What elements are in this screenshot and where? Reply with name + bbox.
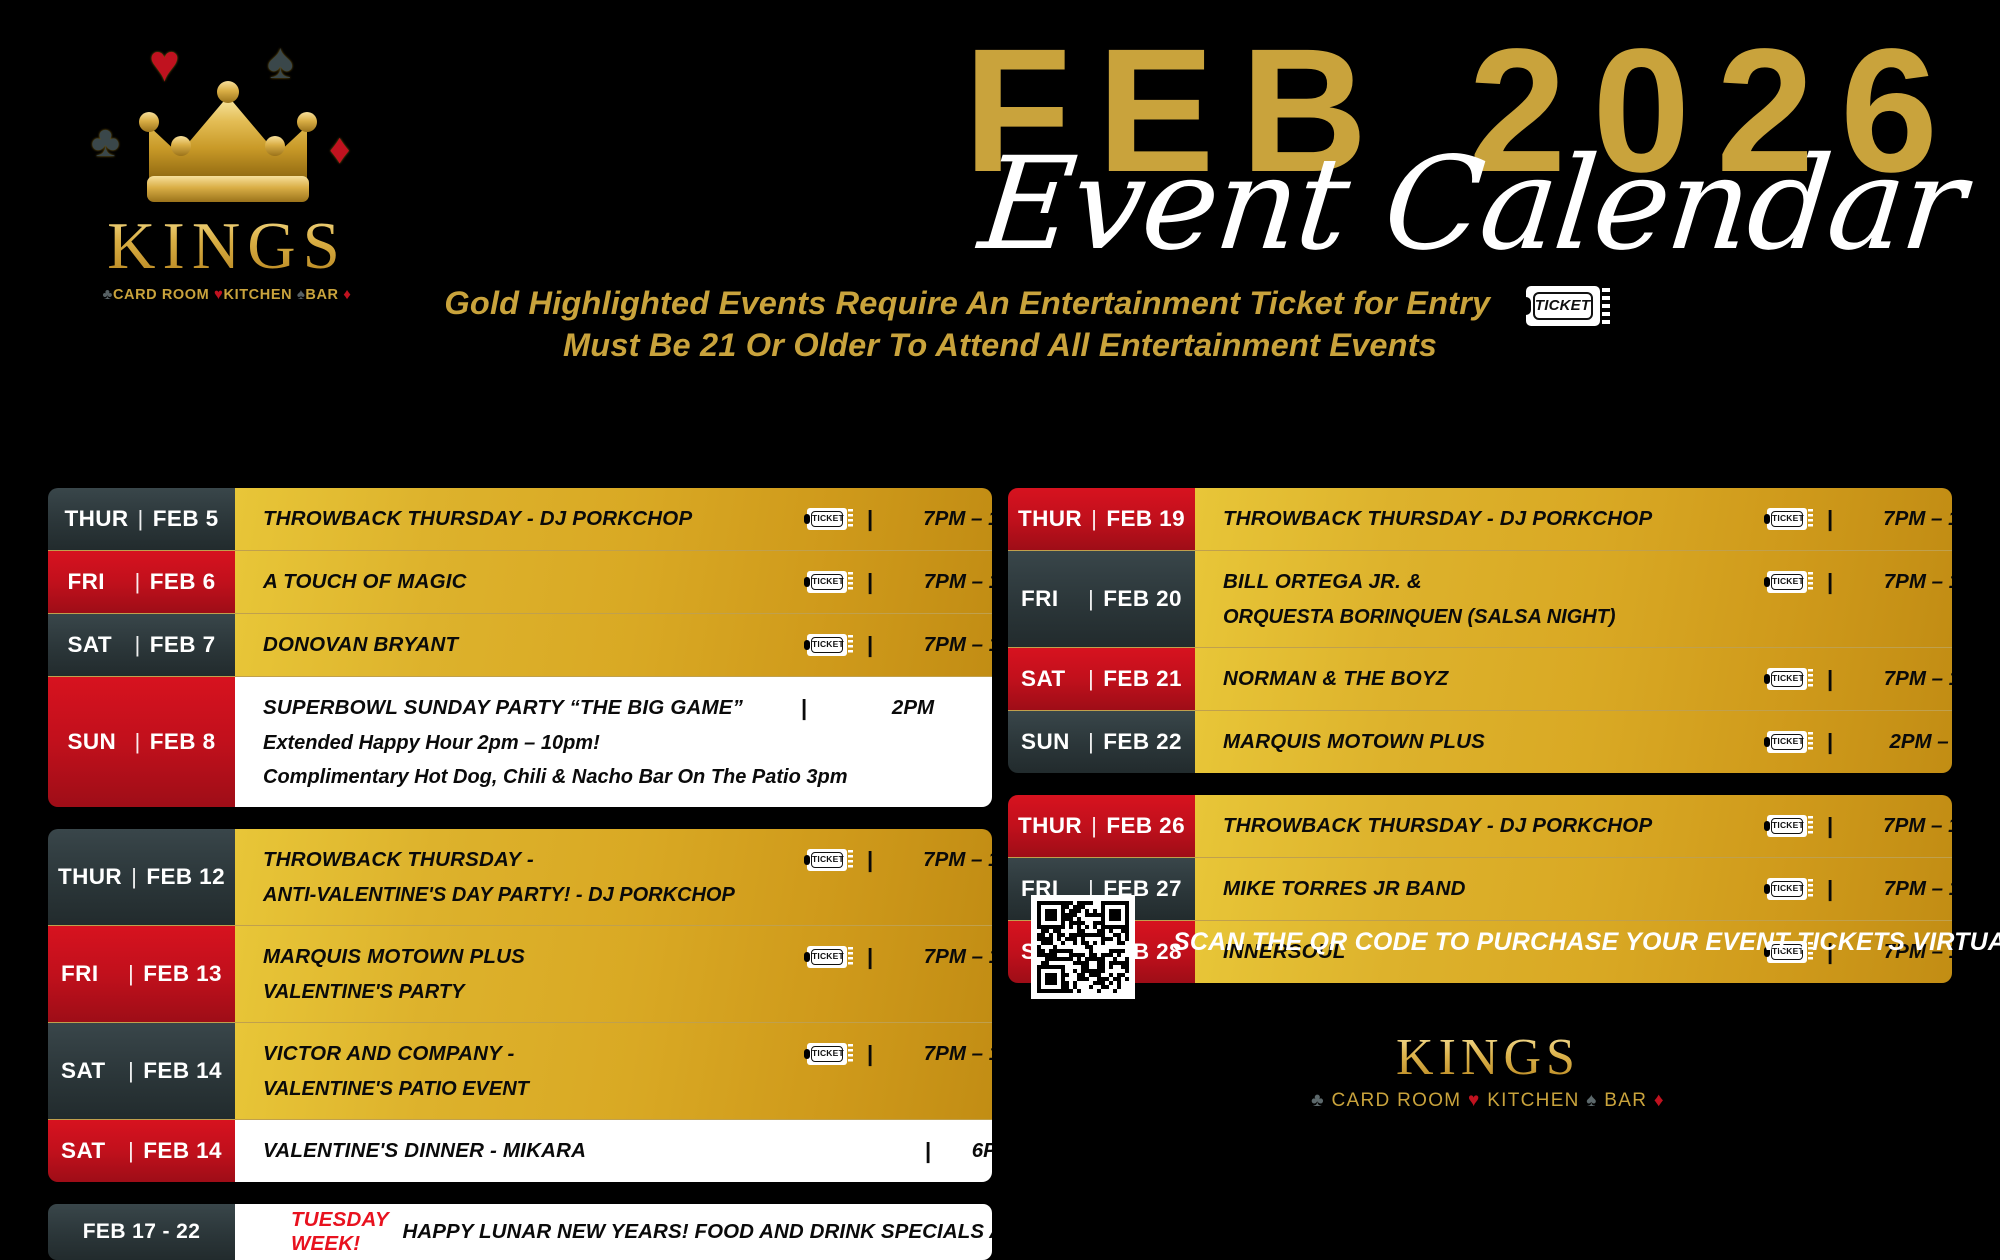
event-primary-line: MARQUIS MOTOWN PLUSTICKET|2PM – 5PM|PATI… [1195, 724, 1952, 760]
ticket-icon-label: TICKET [1533, 292, 1593, 320]
event-date-badge: THUR|FEB 26 [1008, 795, 1195, 857]
event-row[interactable]: THUR|FEB 12THROWBACK THURSDAY -TICKET|7P… [48, 829, 992, 925]
event-date-badge: THUR|FEB 5 [48, 488, 235, 550]
event-time: 7PM – 12AM [893, 842, 992, 878]
event-row[interactable]: THUR|FEB 5THROWBACK THURSDAY - DJ PORKCH… [48, 488, 992, 550]
event-time: 7PM – 10PM [893, 564, 992, 600]
event-primary-line: A TOUCH OF MAGICTICKET|7PM – 10PM|PATIO [235, 564, 992, 600]
event-primary-line: MARQUIS MOTOWN PLUSTICKET|7PM – 10PM|PAT… [235, 939, 992, 975]
event-date: FEB 12 [146, 864, 225, 890]
event-day: FRI [67, 569, 125, 595]
ticket-icon-label: TICKET [811, 637, 843, 653]
brand-logo: ♥ ♠ ♣ ♦ [62, 16, 392, 303]
badge-separator: | [1088, 666, 1094, 692]
event-details: NORMAN & THE BOYZTICKET|7PM – 10PM|PATIO [1195, 648, 1952, 710]
event-date: FEB 13 [143, 961, 222, 987]
event-primary-line: VICTOR AND COMPANY -TICKET|7PM – 10PM|PA… [235, 1036, 992, 1072]
club-suit-icon-footer: ♣ [1311, 1090, 1325, 1111]
week-block: THUR|FEB 12THROWBACK THURSDAY -TICKET|7P… [48, 829, 992, 1182]
event-details: MARQUIS MOTOWN PLUSTICKET|2PM – 5PM|PATI… [1195, 711, 1952, 773]
event-time: 2PM [823, 690, 992, 726]
event-row[interactable]: THUR|FEB 26THROWBACK THURSDAY - DJ PORKC… [1008, 795, 1952, 857]
calendar-column-left: THUR|FEB 5THROWBACK THURSDAY - DJ PORKCH… [48, 488, 992, 1260]
ticket-icon: TICKET [807, 1036, 855, 1072]
page-footer: SCAN THE QR CODE TO PURCHASE YOUR EVENT … [1008, 880, 1968, 1120]
event-day: THUR [1018, 813, 1082, 839]
event-row[interactable]: SUN|FEB 8SUPERBOWL SUNDAY PARTY “THE BIG… [48, 676, 992, 807]
event-day: THUR [64, 506, 128, 532]
separator-pipe: | [801, 690, 807, 726]
event-date: FEB 26 [1106, 813, 1185, 839]
week-block: THUR|FEB 19THROWBACK THURSDAY - DJ PORKC… [1008, 488, 1952, 773]
event-details: A TOUCH OF MAGICTICKET|7PM – 10PM|PATIO [235, 551, 992, 613]
badge-separator: | [128, 961, 134, 987]
separator-pipe: | [867, 939, 873, 975]
event-details: MARQUIS MOTOWN PLUSTICKET|7PM – 10PM|PAT… [235, 926, 992, 1022]
event-date: FEB 8 [150, 729, 216, 755]
event-date: FEB 21 [1103, 666, 1182, 692]
crown-icon [133, 68, 323, 218]
event-day: THUR [58, 864, 122, 890]
ticket-icon-large: TICKET [1526, 285, 1614, 326]
event-time: 7PM – 10PM [893, 1036, 992, 1072]
event-primary-line: SUPERBOWL SUNDAY PARTY “THE BIG GAME”|2P… [235, 690, 992, 726]
event-row[interactable]: FRI|FEB 13MARQUIS MOTOWN PLUSTICKET|7PM … [48, 925, 992, 1022]
qr-code[interactable] [1031, 895, 1135, 999]
page-subtitle: Event Calendar [474, 153, 1975, 258]
event-date: FEB 7 [150, 632, 216, 658]
ticket-icon: TICKET [807, 842, 855, 878]
event-title: DONOVAN BRYANT [263, 627, 458, 663]
ticket-icon-label: TICKET [1771, 734, 1803, 750]
event-details: THROWBACK THURSDAY -TICKET|7PM – 12AM|PA… [235, 829, 992, 925]
event-title: VICTOR AND COMPANY - [263, 1036, 515, 1072]
event-day: SAT [67, 632, 125, 658]
event-date: FEB 5 [153, 506, 219, 532]
event-primary-line: THROWBACK THURSDAY - DJ PORKCHOPTICKET|7… [1195, 808, 1952, 844]
brand-name: KINGS [62, 215, 392, 279]
event-time: 2PM – 5PM [1853, 724, 1952, 760]
ticket-icon: TICKET [1767, 724, 1815, 760]
event-date-badge: SAT|FEB 7 [48, 614, 235, 676]
ticket-icon-label: TICKET [1771, 511, 1803, 527]
separator-pipe: | [867, 501, 873, 537]
event-row[interactable]: SAT|FEB 7DONOVAN BRYANTTICKET|7PM – 10PM… [48, 613, 992, 676]
event-primary-line: THROWBACK THURSDAY - DJ PORKCHOPTICKET|7… [1195, 501, 1952, 537]
event-time: 7PM – 12AM [893, 501, 992, 537]
footer-tagline-card-room: CARD ROOM [1332, 1090, 1462, 1111]
diamond-suit-icon: ♦ [329, 128, 350, 170]
event-details: THROWBACK THURSDAY - DJ PORKCHOPTICKET|7… [1195, 488, 1952, 550]
event-time: 7PM – 10PM [893, 939, 992, 975]
separator-pipe: | [867, 564, 873, 600]
footer-tagline-bar: BAR [1604, 1090, 1647, 1111]
lunar-message: HAPPY LUNAR NEW YEARS! FOOD AND DRINK SP… [402, 1220, 992, 1244]
separator-pipe: | [867, 842, 873, 878]
event-extra-line: ANTI-VALENTINE'S DAY PARTY! - DJ PORKCHO… [235, 878, 992, 912]
separator-pipe: | [1827, 501, 1833, 537]
event-date-badge: FRI|FEB 6 [48, 551, 235, 613]
week-block: THUR|FEB 5THROWBACK THURSDAY - DJ PORKCH… [48, 488, 992, 807]
event-day: FRI [1021, 586, 1079, 612]
ticket-icon: TICKET [1767, 501, 1815, 537]
ticket-icon-label: TICKET [1771, 671, 1803, 687]
separator-pipe: | [867, 1036, 873, 1072]
badge-separator: | [1091, 506, 1097, 532]
event-extra-line: Extended Happy Hour 2pm – 10pm! [235, 726, 992, 760]
event-day: FRI [61, 961, 119, 987]
lunar-highlight: TUESDAY WEEK! [291, 1208, 388, 1256]
event-date-badge: FRI|FEB 13 [48, 926, 235, 1022]
entry-notice: Gold Highlighted Events Require An Enter… [0, 284, 2000, 366]
event-time: 7PM – 12AM [1853, 808, 1952, 844]
event-details: BILL ORTEGA JR. &TICKET|7PM – 10PM|PATIO… [1195, 551, 1952, 647]
separator-pipe: | [1827, 661, 1833, 697]
event-row[interactable]: THUR|FEB 19THROWBACK THURSDAY - DJ PORKC… [1008, 488, 1952, 550]
notice-line-1: Gold Highlighted Events Require An Enter… [0, 284, 2000, 326]
lunar-message-body: TUESDAY WEEK!HAPPY LUNAR NEW YEARS! FOOD… [235, 1204, 992, 1260]
ticket-icon: TICKET [1767, 808, 1815, 844]
page-header: ♥ ♠ ♣ ♦ [0, 0, 2000, 360]
event-time: 7PM – 10PM [1853, 661, 1952, 697]
event-row[interactable]: SAT|FEB 14VICTOR AND COMPANY -TICKET|7PM… [48, 1022, 992, 1119]
badge-separator: | [1091, 813, 1097, 839]
event-time: 7PM – 10PM [1853, 564, 1952, 600]
event-row[interactable]: FRI|FEB 6A TOUCH OF MAGICTICKET|7PM – 10… [48, 550, 992, 613]
event-date: FEB 6 [150, 569, 216, 595]
ticket-icon-label: TICKET [811, 511, 843, 527]
ticket-icon: TICKET [807, 564, 855, 600]
badge-separator: | [138, 506, 144, 532]
ticket-icon-label: TICKET [1771, 818, 1803, 834]
ticket-icon: TICKET [1767, 661, 1815, 697]
ticket-icon: TICKET [807, 627, 855, 663]
event-day: SUN [1021, 729, 1079, 755]
event-extra-line: Complimentary Hot Dog, Chili & Nacho Bar… [235, 760, 992, 794]
event-details: DONOVAN BRYANTTICKET|7PM – 10PM|PATIO [235, 614, 992, 676]
event-title: A TOUCH OF MAGIC [263, 564, 467, 600]
event-day: SAT [1021, 666, 1079, 692]
event-date-badge: FRI|FEB 20 [1008, 551, 1195, 647]
title-area: FEB 2026 Event Calendar [480, 34, 1970, 258]
scan-instruction: SCAN THE QR CODE TO PURCHASE YOUR EVENT … [1173, 928, 2000, 957]
club-suit-icon: ♣ [91, 120, 120, 164]
event-date-badge: SAT|FEB 21 [1008, 648, 1195, 710]
event-time: 6PM – 10PM [941, 1133, 992, 1169]
event-title: NORMAN & THE BOYZ [1223, 661, 1448, 697]
event-title: SUPERBOWL SUNDAY PARTY “THE BIG GAME” [263, 690, 743, 726]
event-details: THROWBACK THURSDAY - DJ PORKCHOPTICKET|7… [235, 488, 992, 550]
event-date-badge: SUN|FEB 22 [1008, 711, 1195, 773]
event-title: THROWBACK THURSDAY - [263, 842, 534, 878]
separator-pipe: | [867, 627, 873, 663]
badge-separator: | [134, 729, 140, 755]
ticket-icon-label: TICKET [1771, 574, 1803, 590]
ticket-icon-label: TICKET [811, 852, 843, 868]
event-primary-line: THROWBACK THURSDAY -TICKET|7PM – 12AM|PA… [235, 842, 992, 878]
event-title: THROWBACK THURSDAY - DJ PORKCHOP [263, 501, 692, 537]
lunar-date-range: FEB 17 - 22 [48, 1204, 235, 1260]
event-date-badge: SAT|FEB 14 [48, 1023, 235, 1119]
ticket-icon-label: TICKET [811, 574, 843, 590]
event-time: 7PM – 12AM [1853, 501, 1952, 537]
event-details: VICTOR AND COMPANY -TICKET|7PM – 10PM|PA… [235, 1023, 992, 1119]
event-date-badge: SAT|FEB 14 [48, 1120, 235, 1182]
footer-tagline-kitchen: KITCHEN [1487, 1090, 1580, 1111]
event-day: SAT [61, 1138, 119, 1164]
event-day: SAT [61, 1058, 119, 1084]
event-title: THROWBACK THURSDAY - DJ PORKCHOP [1223, 808, 1652, 844]
event-date: FEB 14 [143, 1058, 222, 1084]
ticket-icon-label: TICKET [811, 1046, 843, 1062]
badge-separator: | [128, 1058, 134, 1084]
heart-suit-icon-footer: ♥ [1468, 1090, 1481, 1111]
ticket-icon: TICKET [1767, 564, 1815, 600]
event-day: THUR [1018, 506, 1082, 532]
event-title: VALENTINE'S DINNER - MIKARA [263, 1133, 586, 1169]
event-title: BILL ORTEGA JR. & [1223, 564, 1422, 600]
event-details: VALENTINE'S DINNER - MIKARA|6PM – 10PM|D… [235, 1120, 992, 1182]
event-extra-line: ORQUESTA BORINQUEN (SALSA NIGHT) [1195, 600, 1952, 634]
event-title: MARQUIS MOTOWN PLUS [1223, 724, 1485, 760]
notice-line-2: Must Be 21 Or Older To Attend All Entert… [0, 326, 2000, 366]
event-primary-line: BILL ORTEGA JR. &TICKET|7PM – 10PM|PATIO [1195, 564, 1952, 600]
event-date-badge: THUR|FEB 19 [1008, 488, 1195, 550]
event-day: SUN [67, 729, 125, 755]
separator-pipe: | [1827, 724, 1833, 760]
event-time: 7PM – 10PM [893, 627, 992, 663]
badge-separator: | [128, 1138, 134, 1164]
event-title: MARQUIS MOTOWN PLUS [263, 939, 525, 975]
event-date: FEB 19 [1106, 506, 1185, 532]
footer-brand-logo: KINGS ♣ CARD ROOM ♥ KITCHEN ♠ BAR ♦ [1008, 1032, 1968, 1112]
notice-line-1-text: Gold Highlighted Events Require An Enter… [444, 285, 1490, 321]
badge-separator: | [134, 569, 140, 595]
lunar-new-year-strip[interactable]: FEB 17 - 22TUESDAY WEEK!HAPPY LUNAR NEW … [48, 1204, 992, 1260]
event-details: THROWBACK THURSDAY - DJ PORKCHOPTICKET|7… [1195, 795, 1952, 857]
spade-suit-icon-footer: ♠ [1586, 1090, 1597, 1111]
separator-pipe: | [1827, 808, 1833, 844]
event-date-badge: THUR|FEB 12 [48, 829, 235, 925]
badge-separator: | [131, 864, 137, 890]
footer-brand-tagline: ♣ CARD ROOM ♥ KITCHEN ♠ BAR ♦ [1008, 1090, 1968, 1112]
event-date: FEB 14 [143, 1138, 222, 1164]
badge-separator: | [134, 632, 140, 658]
event-row[interactable]: SAT|FEB 21NORMAN & THE BOYZTICKET|7PM – … [1008, 647, 1952, 710]
badge-separator: | [1088, 586, 1094, 612]
event-details: SUPERBOWL SUNDAY PARTY “THE BIG GAME”|2P… [235, 677, 992, 807]
event-primary-line: THROWBACK THURSDAY - DJ PORKCHOPTICKET|7… [235, 501, 992, 537]
event-extra-line: VALENTINE'S PATIO EVENT [235, 1072, 992, 1106]
event-row[interactable]: SUN|FEB 22MARQUIS MOTOWN PLUSTICKET|2PM … [1008, 710, 1952, 773]
event-date: FEB 20 [1103, 586, 1182, 612]
event-row[interactable]: SAT|FEB 14VALENTINE'S DINNER - MIKARA|6P… [48, 1119, 992, 1182]
footer-brand-name: KINGS [1008, 1032, 1968, 1084]
separator-pipe: | [1827, 564, 1833, 600]
crown-logo-graphic: ♥ ♠ ♣ ♦ [77, 16, 377, 221]
event-row[interactable]: FRI|FEB 20BILL ORTEGA JR. &TICKET|7PM – … [1008, 550, 1952, 647]
ticket-icon: TICKET [807, 939, 855, 975]
event-extra-line: VALENTINE'S PARTY [235, 975, 992, 1009]
event-primary-line: NORMAN & THE BOYZTICKET|7PM – 10PM|PATIO [1195, 661, 1952, 697]
event-primary-line: DONOVAN BRYANTTICKET|7PM – 10PM|PATIO [235, 627, 992, 663]
separator-pipe: | [925, 1133, 931, 1169]
event-primary-line: VALENTINE'S DINNER - MIKARA|6PM – 10PM|D… [235, 1133, 992, 1169]
event-date-badge: SUN|FEB 8 [48, 677, 235, 807]
diamond-suit-icon-footer: ♦ [1654, 1090, 1665, 1111]
ticket-icon: TICKET [807, 501, 855, 537]
badge-separator: | [1088, 729, 1094, 755]
event-title: THROWBACK THURSDAY - DJ PORKCHOP [1223, 501, 1652, 537]
ticket-icon-label: TICKET [811, 949, 843, 965]
event-date: FEB 22 [1103, 729, 1182, 755]
